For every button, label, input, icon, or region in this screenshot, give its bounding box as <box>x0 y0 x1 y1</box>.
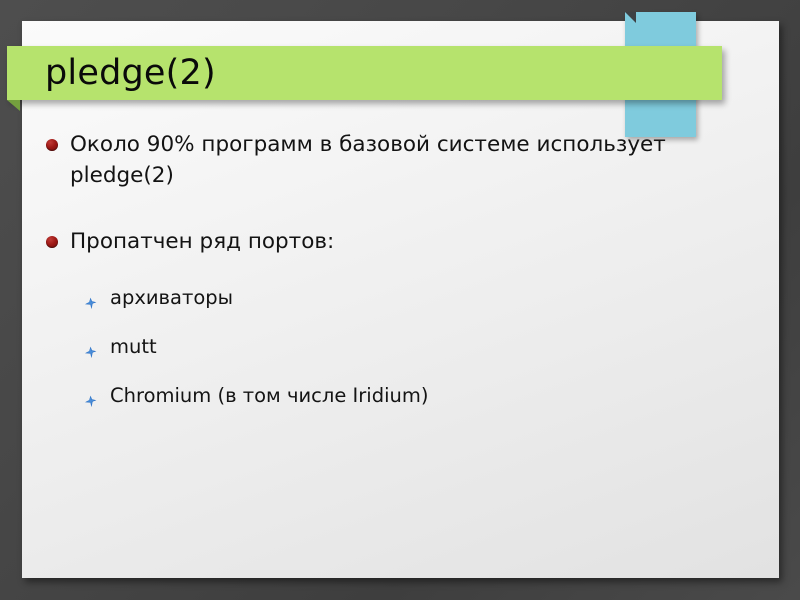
blue-block-fold-corner-icon <box>625 12 636 23</box>
slide-content: Около 90% программ в базовой системе исп… <box>22 130 779 431</box>
list-item: Пропатчен ряд портов: <box>22 227 730 258</box>
list-item: mutt <box>22 333 779 360</box>
list-item: архиваторы <box>22 284 779 311</box>
list-item: Около 90% программ в базовой системе исп… <box>22 130 730 191</box>
title-banner-fold-icon <box>7 100 20 122</box>
content-spacer <box>22 211 779 227</box>
list-item-label: Пропатчен ряд портов: <box>70 229 334 254</box>
slide-root: pledge(2) Около 90% программ в базовой с… <box>0 0 800 600</box>
blue-star-bullet-icon <box>84 339 97 352</box>
list-item-label: mutt <box>110 335 157 358</box>
list-item-label: архиваторы <box>110 286 233 309</box>
red-sphere-bullet-icon <box>46 139 58 151</box>
page-title: pledge(2) <box>45 56 216 91</box>
sub-list: архиваторы mutt Chromi <box>22 284 779 410</box>
list-item-label: Около 90% программ в базовой системе исп… <box>70 132 666 188</box>
list-item-label: Chromium (в том числе Iridium) <box>110 384 428 407</box>
title-banner: pledge(2) <box>7 46 722 100</box>
red-sphere-bullet-icon <box>46 236 58 248</box>
blue-star-bullet-icon <box>84 290 97 303</box>
blue-star-bullet-icon <box>84 388 97 401</box>
list-item: Chromium (в том числе Iridium) <box>22 382 779 409</box>
